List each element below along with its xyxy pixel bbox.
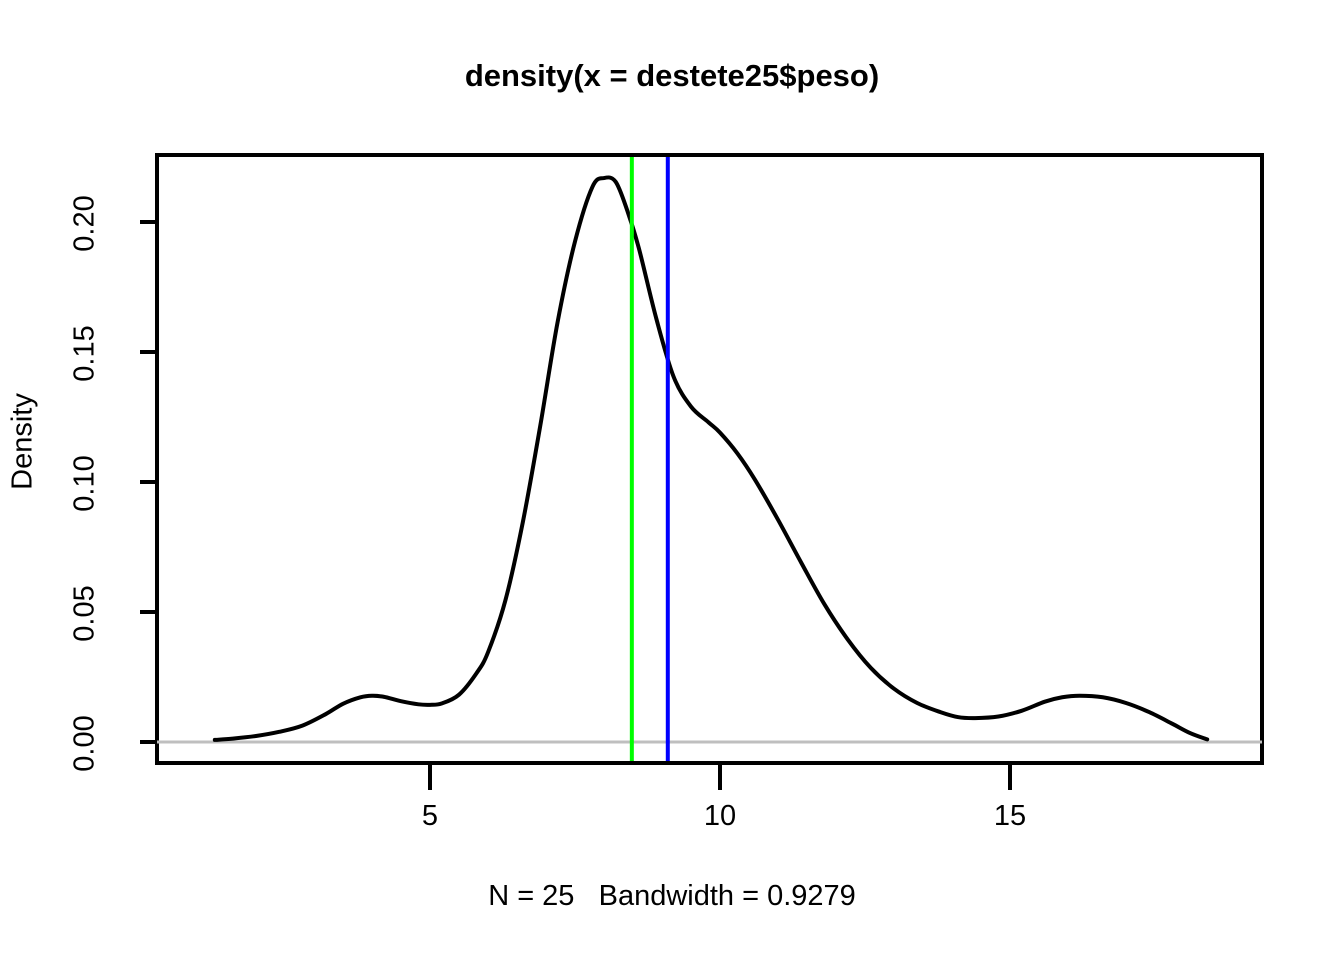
x-tick-label-5: 5 — [390, 800, 470, 833]
y-axis-ticks — [140, 222, 157, 742]
x-tick-label-10: 10 — [680, 800, 760, 833]
density-curve — [215, 177, 1207, 740]
plot-canvas — [0, 0, 1344, 960]
y-tick-label-020: 0.20 — [69, 179, 102, 269]
y-tick-label-015: 0.15 — [69, 309, 102, 399]
y-tick-label-010: 0.10 — [69, 439, 102, 529]
x-tick-label-15: 15 — [970, 800, 1050, 833]
x-axis-caption: N = 25 Bandwidth = 0.9279 — [0, 880, 1344, 913]
y-tick-label-000: 0.00 — [69, 699, 102, 789]
y-tick-label-005: 0.05 — [69, 569, 102, 659]
plot-panel-border — [157, 155, 1262, 763]
x-axis-ticks — [430, 763, 1010, 790]
density-plot-figure: density(x = destete25$peso) Density 5 10… — [0, 0, 1344, 960]
